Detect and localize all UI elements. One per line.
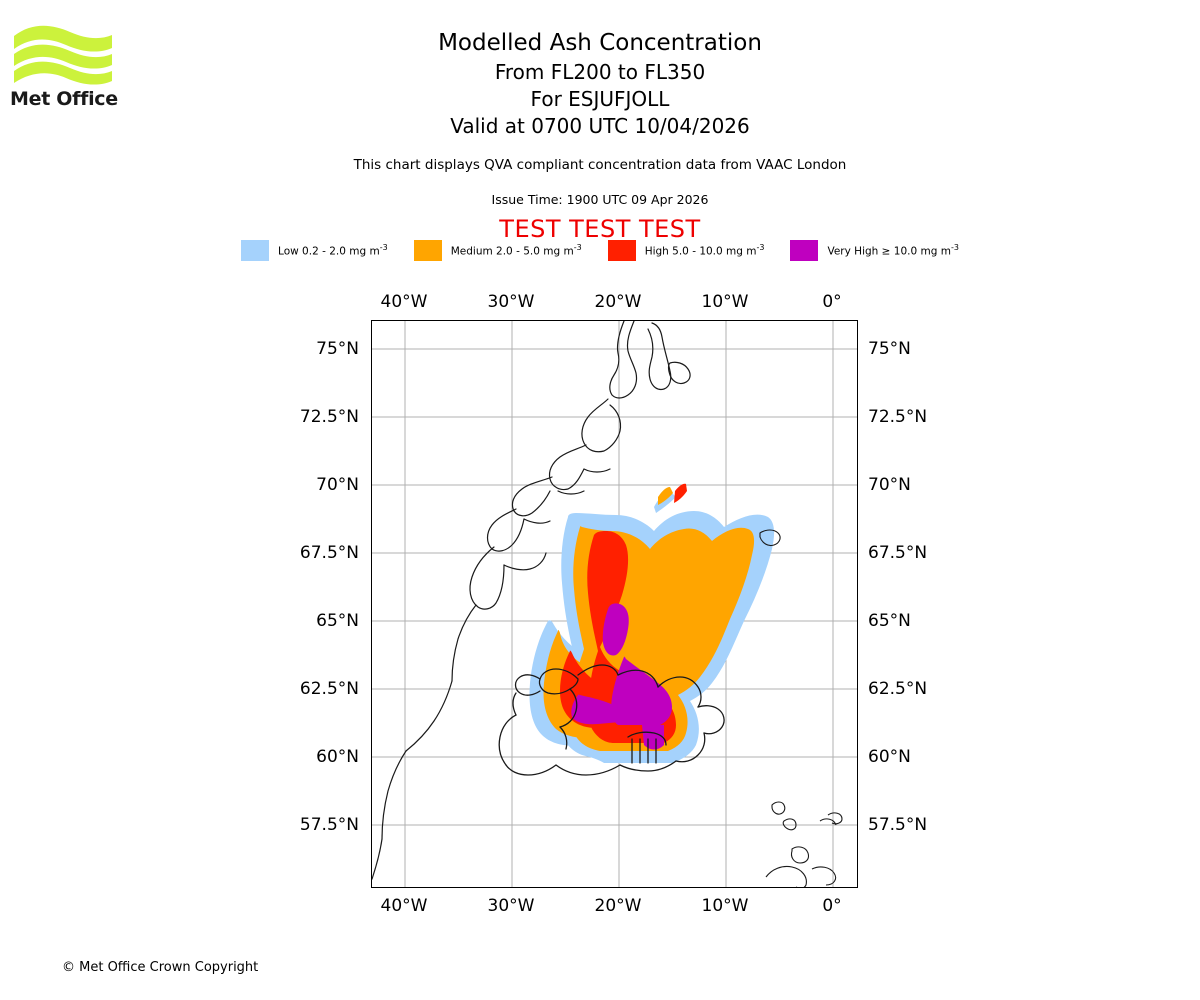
- legend-label-high: High 5.0 - 10.0 mg m-3: [645, 243, 765, 258]
- ytick-left-67.5N: 67.5°N: [247, 543, 359, 563]
- title-line-3: For ESJUFJOLL: [0, 86, 1200, 113]
- xtick-bottom-0: 0°: [782, 896, 882, 916]
- xtick-bottom-10W: 10°W: [675, 896, 775, 916]
- legend-item-high: High 5.0 - 10.0 mg m-3: [608, 240, 765, 261]
- legend-swatch-medium: [414, 240, 442, 261]
- xtick-top-10W: 10°W: [675, 292, 775, 312]
- ytick-left-70N: 70°N: [247, 475, 359, 495]
- xtick-top-30W: 30°W: [461, 292, 561, 312]
- legend-swatch-very-high: [790, 240, 818, 261]
- ash-concentration-map: 40°W 30°W 20°W 10°W 0° 40°W 30°W 20°W 10…: [371, 320, 858, 888]
- ytick-left-65N: 65°N: [247, 611, 359, 631]
- xtick-bottom-40W: 40°W: [354, 896, 454, 916]
- ytick-left-62.5N: 62.5°N: [247, 679, 359, 699]
- title-line-4: Valid at 0700 UTC 10/04/2026: [0, 113, 1200, 140]
- source-note: This chart displays QVA compliant concen…: [0, 157, 1200, 173]
- issue-time: Issue Time: 1900 UTC 09 Apr 2026: [0, 192, 1200, 207]
- legend-label-low: Low 0.2 - 2.0 mg m-3: [278, 243, 388, 258]
- ytick-right-60N: 60°N: [868, 747, 980, 767]
- legend-item-very-high: Very High ≥ 10.0 mg m-3: [790, 240, 958, 261]
- map-frame: [371, 320, 858, 888]
- jan-mayen-and-islets-coastline: [760, 530, 842, 888]
- ytick-right-72.5N: 72.5°N: [868, 407, 980, 427]
- xtick-bottom-20W: 20°W: [568, 896, 668, 916]
- ytick-right-57.5N: 57.5°N: [868, 815, 980, 835]
- title-line-1: Modelled Ash Concentration: [0, 28, 1200, 59]
- legend-item-medium: Medium 2.0 - 5.0 mg m-3: [414, 240, 582, 261]
- map-canvas: [372, 321, 858, 888]
- xtick-bottom-30W: 30°W: [461, 896, 561, 916]
- copyright-footer: © Met Office Crown Copyright: [62, 960, 258, 975]
- ytick-right-62.5N: 62.5°N: [868, 679, 980, 699]
- legend-swatch-high: [608, 240, 636, 261]
- legend-label-very-high: Very High ≥ 10.0 mg m-3: [827, 243, 958, 258]
- ytick-right-70N: 70°N: [868, 475, 980, 495]
- xtick-top-20W: 20°W: [568, 292, 668, 312]
- xtick-top-0: 0°: [782, 292, 882, 312]
- ytick-left-60N: 60°N: [247, 747, 359, 767]
- ytick-right-65N: 65°N: [868, 611, 980, 631]
- legend-swatch-low: [241, 240, 269, 261]
- ytick-right-67.5N: 67.5°N: [868, 543, 980, 563]
- xtick-top-40W: 40°W: [354, 292, 454, 312]
- ytick-left-75N: 75°N: [247, 339, 359, 359]
- legend-item-low: Low 0.2 - 2.0 mg m-3: [241, 240, 388, 261]
- ytick-left-72.5N: 72.5°N: [247, 407, 359, 427]
- ytick-right-75N: 75°N: [868, 339, 980, 359]
- ytick-left-57.5N: 57.5°N: [247, 815, 359, 835]
- chart-title-block: Modelled Ash Concentration From FL200 to…: [0, 28, 1200, 140]
- concentration-legend: Low 0.2 - 2.0 mg m-3 Medium 2.0 - 5.0 mg…: [0, 240, 1200, 261]
- title-line-2: From FL200 to FL350: [0, 59, 1200, 86]
- legend-label-medium: Medium 2.0 - 5.0 mg m-3: [451, 243, 582, 258]
- test-banner: TEST TEST TEST: [0, 215, 1200, 243]
